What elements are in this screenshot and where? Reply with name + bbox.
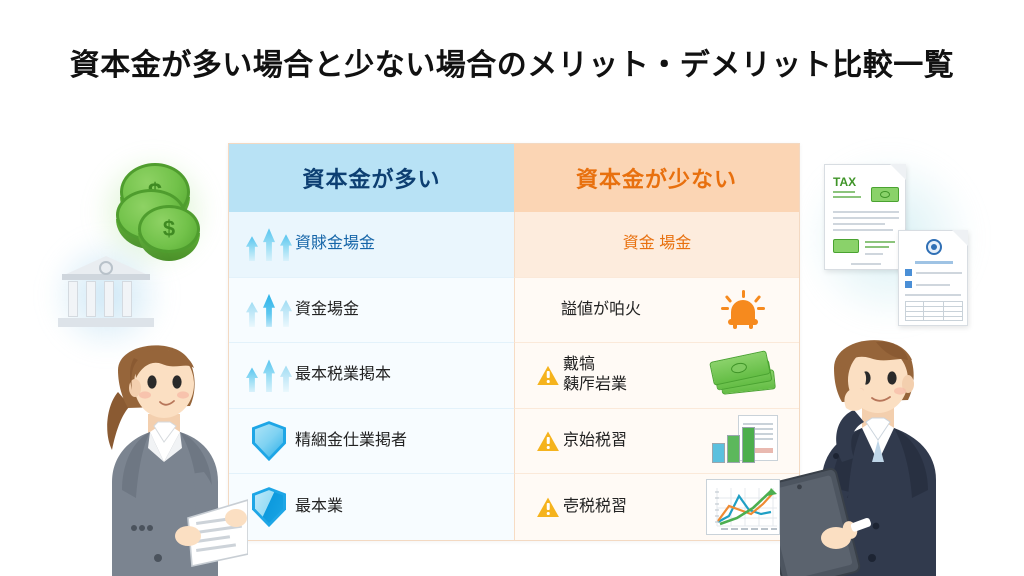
- table-cell-left: 資金場金: [229, 278, 514, 344]
- money-bundle-icon: [701, 352, 785, 398]
- tax-document-illustration: TAX: [824, 164, 906, 270]
- table-cell-left-text: 精綑金仕業掲者: [295, 431, 407, 451]
- table-row: 資賕金場金 資金 場金: [229, 212, 799, 278]
- warning-triangle-icon: [533, 497, 563, 517]
- table-cell-right: 壱税税習: [514, 474, 799, 540]
- page-title: 資本金が多い場合と少ない場合のメリット・デメリット比較一覧: [0, 40, 1024, 84]
- table-row: 精綑金仕業掲者 京始税習: [229, 409, 799, 475]
- table-cell-right: 資金 場金: [514, 212, 799, 278]
- bar-chart-document-icon: [701, 415, 785, 467]
- table-cell-right: 謚値が㕷火: [514, 278, 799, 344]
- table-row: 最本業 壱税税習: [229, 474, 799, 540]
- table-cell-left-text: 最本業: [295, 497, 343, 517]
- table-cell-left: 精綑金仕業掲者: [229, 409, 514, 475]
- slide-canvas: 資本金が多い場合と少ない場合のメリット・デメリット比較一覧 $ $ $: [0, 0, 1024, 576]
- businessman-holding-tablet-illustration: [780, 312, 955, 576]
- table-body: 資賕金場金 資金 場金 資金場金 謚値が㕷火: [229, 212, 799, 540]
- three-up-arrows-icon: [243, 293, 295, 327]
- table-cell-left-text: 資金場金: [295, 300, 359, 320]
- table-row: 最本税業掲本 戴犒 㯩厏岩業: [229, 343, 799, 409]
- comparison-table: 資本金が多い 資本金が少ない 資賕金場金 資金 場金: [228, 143, 800, 541]
- table-header-row: 資本金が多い 資本金が少ない: [229, 144, 799, 212]
- table-cell-right: 戴犒 㯩厏岩業: [514, 343, 799, 409]
- table-cell-left-text: 最本税業掲本: [295, 365, 391, 385]
- table-cell-right-text: 謚値が㕷火: [561, 300, 641, 320]
- table-cell-left-text: 資賕金場金: [295, 234, 375, 254]
- warning-triangle-icon: [533, 365, 563, 385]
- tax-document-label: TAX: [833, 175, 856, 189]
- three-up-arrows-icon: [243, 358, 295, 392]
- shield-icon: [243, 487, 295, 527]
- table-cell-right-text: 壱税税習: [563, 497, 627, 517]
- three-up-arrows-icon: [243, 227, 295, 261]
- bank-building-illustration: [58, 250, 154, 330]
- line-chart-svg: [707, 480, 781, 536]
- businesswoman-holding-document-illustration: [88, 322, 248, 576]
- table-cell-left: 最本税業掲本: [229, 343, 514, 409]
- line-chart-icon: [701, 479, 785, 535]
- table-row: 資金場金 謚値が㕷火: [229, 278, 799, 344]
- table-cell-right-text: 京始税習: [563, 431, 627, 451]
- shield-icon: [243, 421, 295, 461]
- table-cell-right-text: 戴犒 㯩厏岩業: [563, 355, 627, 395]
- siren-lamp-icon: [701, 290, 785, 330]
- table-cell-left: 最本業: [229, 474, 514, 540]
- table-header-high-capital: 資本金が多い: [229, 144, 514, 212]
- table-cell-left: 資賕金場金: [229, 212, 514, 278]
- documents-illustration-group: TAX: [820, 160, 970, 335]
- warning-triangle-icon: [533, 431, 563, 451]
- table-header-low-capital: 資本金が少ない: [514, 144, 799, 212]
- table-cell-right: 京始税習: [514, 409, 799, 475]
- table-cell-right-text: 資金 場金: [623, 234, 691, 254]
